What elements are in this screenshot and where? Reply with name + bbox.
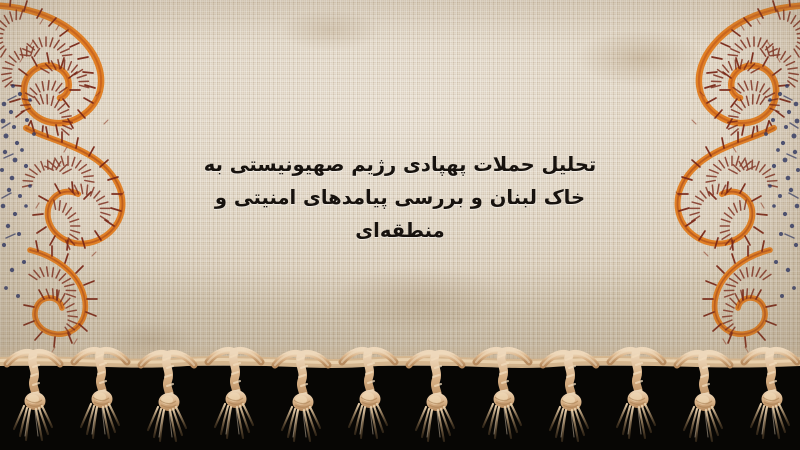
title-line-3: منطقه‌ای (150, 214, 650, 247)
title-line-2: خاک لبنان و بررسی پیامدهای امنیتی و (150, 181, 650, 214)
banner-stage: تحلیل حملات پهپادی رژیم صهیونیستی به خاک… (0, 0, 800, 450)
banner-title: تحلیل حملات پهپادی رژیم صهیونیستی به خاک… (150, 148, 650, 247)
title-line-1: تحلیل حملات پهپادی رژیم صهیونیستی به (150, 148, 650, 181)
tassel-fringe (0, 340, 800, 450)
